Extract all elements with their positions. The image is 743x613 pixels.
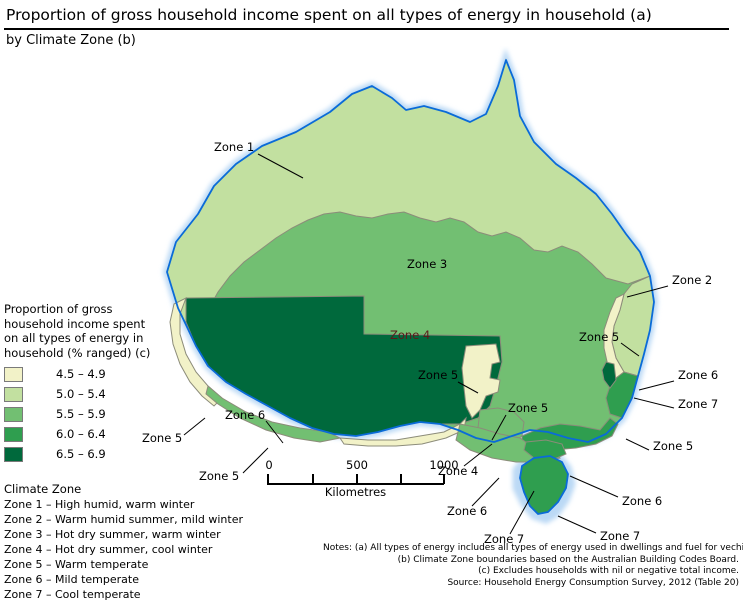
title-divider xyxy=(4,28,729,30)
climate-zone-item-2: Zone 2 – Warm humid summer, mild winter xyxy=(4,512,304,527)
map-label-zone-4-interior: Zone 4 xyxy=(390,329,430,341)
climate-zone-item-1: Zone 1 – High humid, warm winter xyxy=(4,497,304,512)
map-label-zone-6-vic: Zone 6 xyxy=(447,505,487,517)
climate-zone-item-5: Zone 5 – Warm temperate xyxy=(4,557,304,572)
map-label-zone-6-east-coast: Zone 6 xyxy=(678,369,718,381)
footnotes: Notes: (a) All types of energy includes … xyxy=(323,543,739,589)
climate-zone-key-title: Climate Zone xyxy=(4,482,304,497)
climate-zone-item-4: Zone 4 – Hot dry summer, cool winter xyxy=(4,542,304,557)
map-label-zone-7-tas: Zone 7 xyxy=(600,530,640,542)
scale-tick xyxy=(312,474,314,484)
climate-zone-item-3: Zone 3 – Hot dry summer, warm winter xyxy=(4,527,304,542)
legend-title-line-4: household (% ranged) (c) xyxy=(4,346,179,361)
scale-tick xyxy=(400,474,402,484)
legend-swatch-icon xyxy=(4,367,23,382)
legend-label: 5.5 – 5.9 xyxy=(56,407,106,421)
legend-items: 4.5 – 4.9 5.0 – 5.4 5.5 – 5.9 6.0 – 6.4 … xyxy=(4,365,179,463)
legend-item[interactable]: 5.0 – 5.4 xyxy=(4,385,179,403)
legend-item[interactable]: 5.5 – 5.9 xyxy=(4,405,179,423)
legend-title-line-3: on all types of energy in xyxy=(4,331,179,346)
climate-zone-item-7: Zone 7 – Cool temperate xyxy=(4,587,304,602)
page-title: Proportion of gross household income spe… xyxy=(6,6,726,25)
legend-title-line-1: Proportion of gross xyxy=(4,302,179,317)
climate-zone-key: Climate Zone Zone 1 – High humid, warm w… xyxy=(4,482,304,602)
scale-tick xyxy=(443,474,445,484)
legend-label: 4.5 – 4.9 xyxy=(56,367,106,381)
legend-label: 6.0 – 6.4 xyxy=(56,427,106,441)
footnote-a: Notes: (a) All types of energy includes … xyxy=(323,543,739,555)
legend-label: 6.5 – 6.9 xyxy=(56,447,106,461)
footnote-b: (b) Climate Zone boundaries based on the… xyxy=(323,555,739,567)
map-label-zone-5-sa-coast: Zone 5 xyxy=(199,470,239,482)
legend-title: Proportion of gross household income spe… xyxy=(4,302,179,360)
source-citation: Source: Household Energy Consumption Sur… xyxy=(323,578,739,590)
legend-swatch-icon xyxy=(4,387,23,402)
map-label-zone-6-vic-east: Zone 6 xyxy=(622,495,662,507)
scale-tick-label: 500 xyxy=(346,458,368,472)
choropleth-legend: Proportion of gross household income spe… xyxy=(4,302,179,465)
map-label-zone-7-east-coast: Zone 7 xyxy=(678,398,718,410)
legend-label: 5.0 – 5.4 xyxy=(56,387,106,401)
map-label-zone-6-west-coast: Zone 6 xyxy=(225,409,265,421)
legend-swatch-icon xyxy=(4,407,23,422)
footnote-c: (c) Excludes households with nil or nega… xyxy=(323,566,739,578)
scale-tick xyxy=(356,474,358,484)
scale-tick-labels: 0 500 1000 xyxy=(262,458,447,472)
legend-item[interactable]: 4.5 – 4.9 xyxy=(4,365,179,383)
map-label-zone-3-interior: Zone 3 xyxy=(407,258,447,270)
legend-swatch-icon xyxy=(4,447,23,462)
legend-title-line-2: household income spent xyxy=(4,317,179,332)
map-label-zone-5-sa-south: Zone 5 xyxy=(508,402,548,414)
scale-tick-label: 0 xyxy=(265,458,272,472)
map-label-zone-2-east: Zone 2 xyxy=(672,274,712,286)
legend-item[interactable]: 6.0 – 6.4 xyxy=(4,425,179,443)
scale-tick-label: 1000 xyxy=(429,458,458,472)
map-label-zone-5-sa-se: Zone 5 xyxy=(653,440,693,452)
map-label-zone-5-sa-north: Zone 5 xyxy=(418,369,458,381)
map-label-zone-5-east-inland: Zone 5 xyxy=(579,331,619,343)
climate-zone-item-6: Zone 6 – Mild temperate xyxy=(4,572,304,587)
legend-item[interactable]: 6.5 – 6.9 xyxy=(4,445,179,463)
legend-swatch-icon xyxy=(4,427,23,442)
map-label-zone-1-north: Zone 1 xyxy=(214,141,254,153)
